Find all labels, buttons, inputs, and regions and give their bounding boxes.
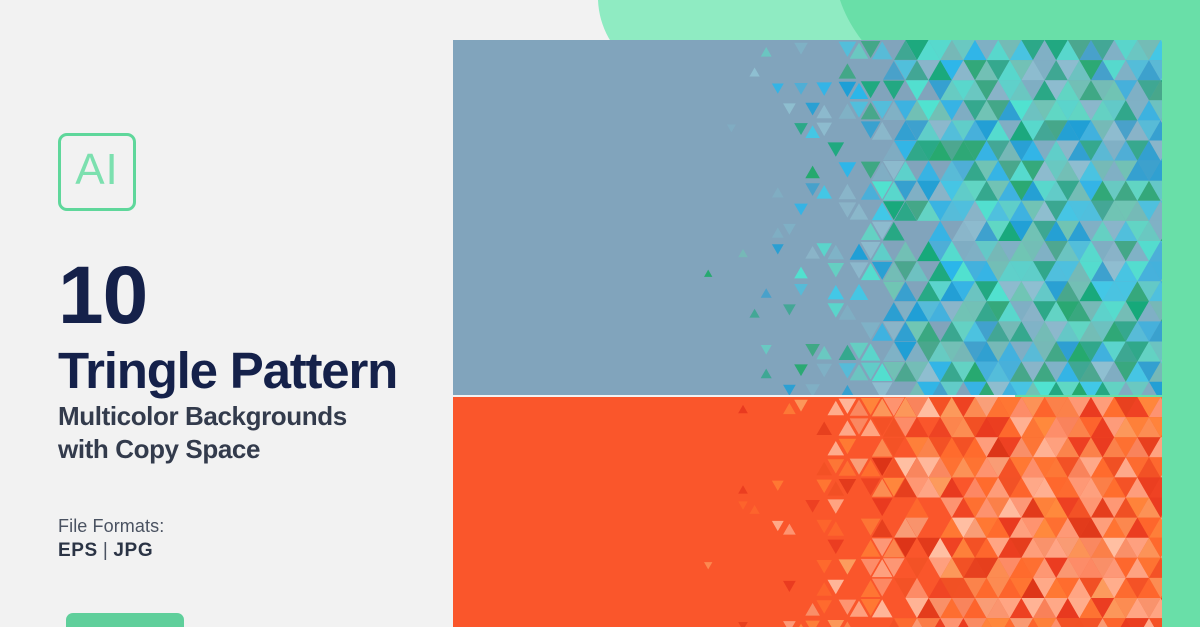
ai-badge-label: AI [75, 148, 119, 192]
blue-teal-triangle-preview [453, 40, 1162, 395]
info-column: AI 10 Tringle Pattern Multicolor Backgro… [0, 0, 453, 627]
cta-pill[interactable] [66, 613, 184, 627]
page-title: Tringle Pattern [58, 345, 397, 397]
subtitle-line-1: Multicolor Backgrounds [58, 400, 347, 433]
poster-canvas: AI 10 Tringle Pattern Multicolor Backgro… [0, 0, 1200, 627]
blue-triangle-pattern [453, 40, 1162, 395]
subtitle-line-2: with Copy Space [58, 433, 347, 466]
orange-red-triangle-preview [453, 397, 1162, 627]
file-formats-value: EPS|JPG [58, 540, 153, 563]
file-formats-label: File Formats: [58, 516, 164, 538]
page-subtitle: Multicolor Backgrounds with Copy Space [58, 400, 347, 466]
item-count: 10 [58, 258, 147, 333]
orange-triangle-pattern [453, 397, 1162, 627]
green-right-band [1162, 0, 1200, 627]
file-format-eps: EPS [58, 540, 98, 561]
file-format-jpg: JPG [113, 540, 153, 561]
ai-format-badge: AI [58, 133, 136, 211]
file-format-separator: | [98, 540, 114, 561]
